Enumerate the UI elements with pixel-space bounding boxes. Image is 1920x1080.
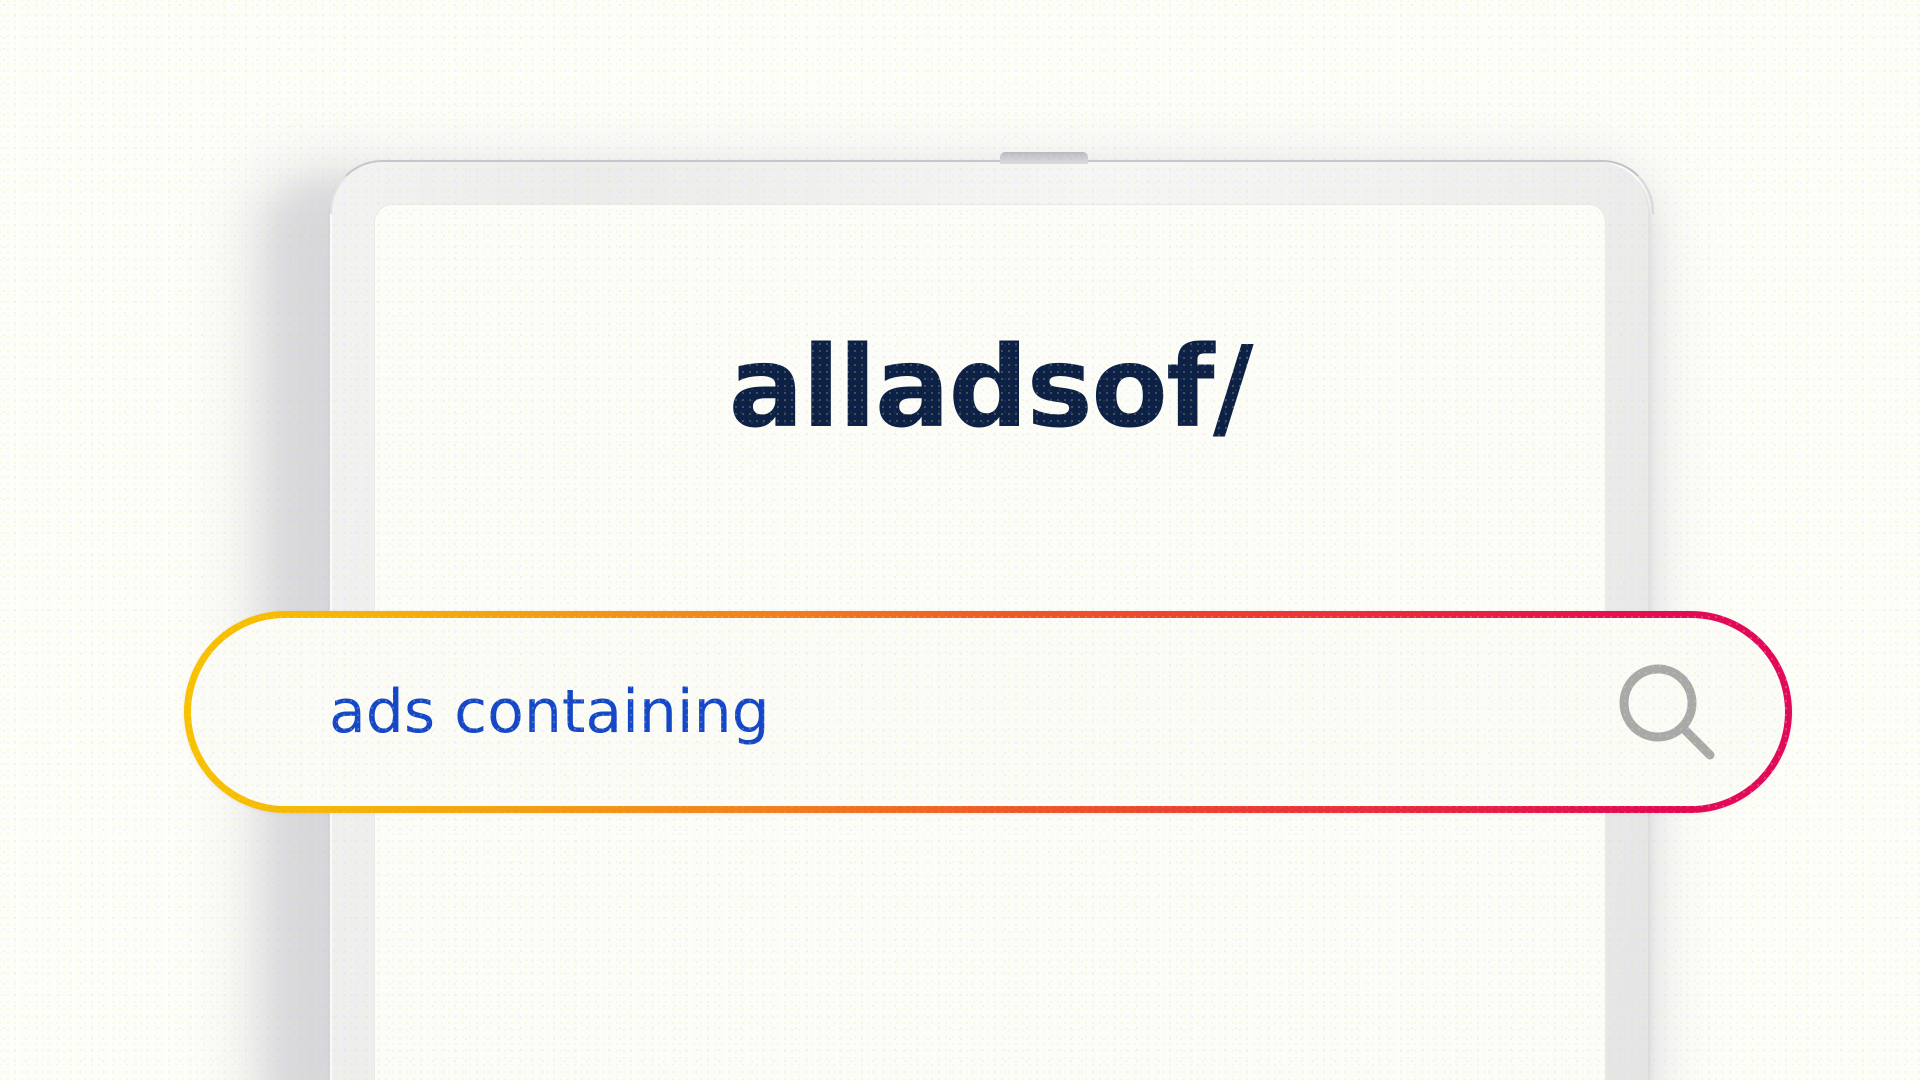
page-title: alladsof/ — [374, 332, 1606, 444]
search-input[interactable] — [329, 679, 1479, 745]
power-button[interactable] — [1000, 152, 1088, 164]
search-button[interactable] — [1611, 656, 1723, 768]
page-root: alladsof/ — [0, 0, 1920, 1080]
search-icon — [1614, 659, 1720, 765]
search-bar[interactable] — [184, 611, 1792, 813]
search-bar-inner — [191, 618, 1785, 806]
